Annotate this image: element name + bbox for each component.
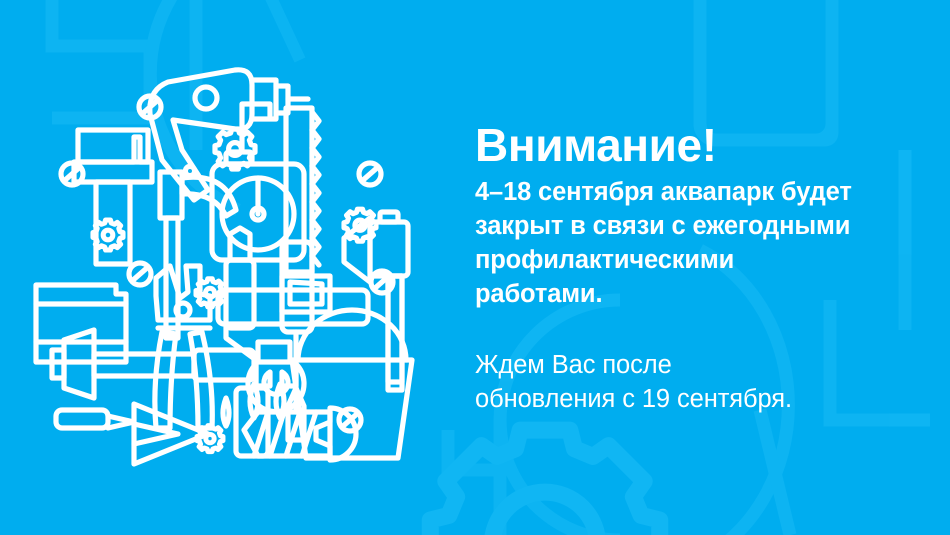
chisel-icon bbox=[223, 398, 229, 426]
gear-watermark bbox=[430, 430, 659, 535]
subhead-line-1: 4–18 сентября аквапарк будет bbox=[475, 175, 925, 209]
trowel-icon bbox=[56, 404, 208, 464]
message-block: Внимание! 4–18 сентября аквапарк будет з… bbox=[475, 122, 925, 417]
subhead-line-4: работами. bbox=[475, 277, 925, 311]
footnote-line-1: Ждем Вас после bbox=[475, 348, 925, 383]
tool-cluster-illustration bbox=[30, 42, 460, 492]
panel2-watermark bbox=[700, 0, 832, 140]
announcement-banner: Внимание! 4–18 сентября аквапарк будет з… bbox=[0, 0, 950, 535]
subhead: 4–18 сентября аквапарк будет закрыт в св… bbox=[475, 175, 925, 312]
bar4-watermark bbox=[760, 410, 790, 535]
chisel-icon bbox=[276, 384, 284, 418]
screw-head-icon bbox=[129, 263, 151, 285]
screw-head-icon bbox=[359, 163, 381, 185]
footnote: Ждем Вас после обновления с 19 сентября. bbox=[475, 348, 925, 417]
panel-watermark bbox=[760, 10, 832, 140]
headline: Внимание! bbox=[475, 122, 925, 169]
footnote-line-2: обновления с 19 сентября. bbox=[475, 382, 925, 417]
subhead-line-3: профилактическими bbox=[475, 243, 925, 277]
subhead-line-2: закрыт в связи с ежегодными bbox=[475, 209, 925, 243]
